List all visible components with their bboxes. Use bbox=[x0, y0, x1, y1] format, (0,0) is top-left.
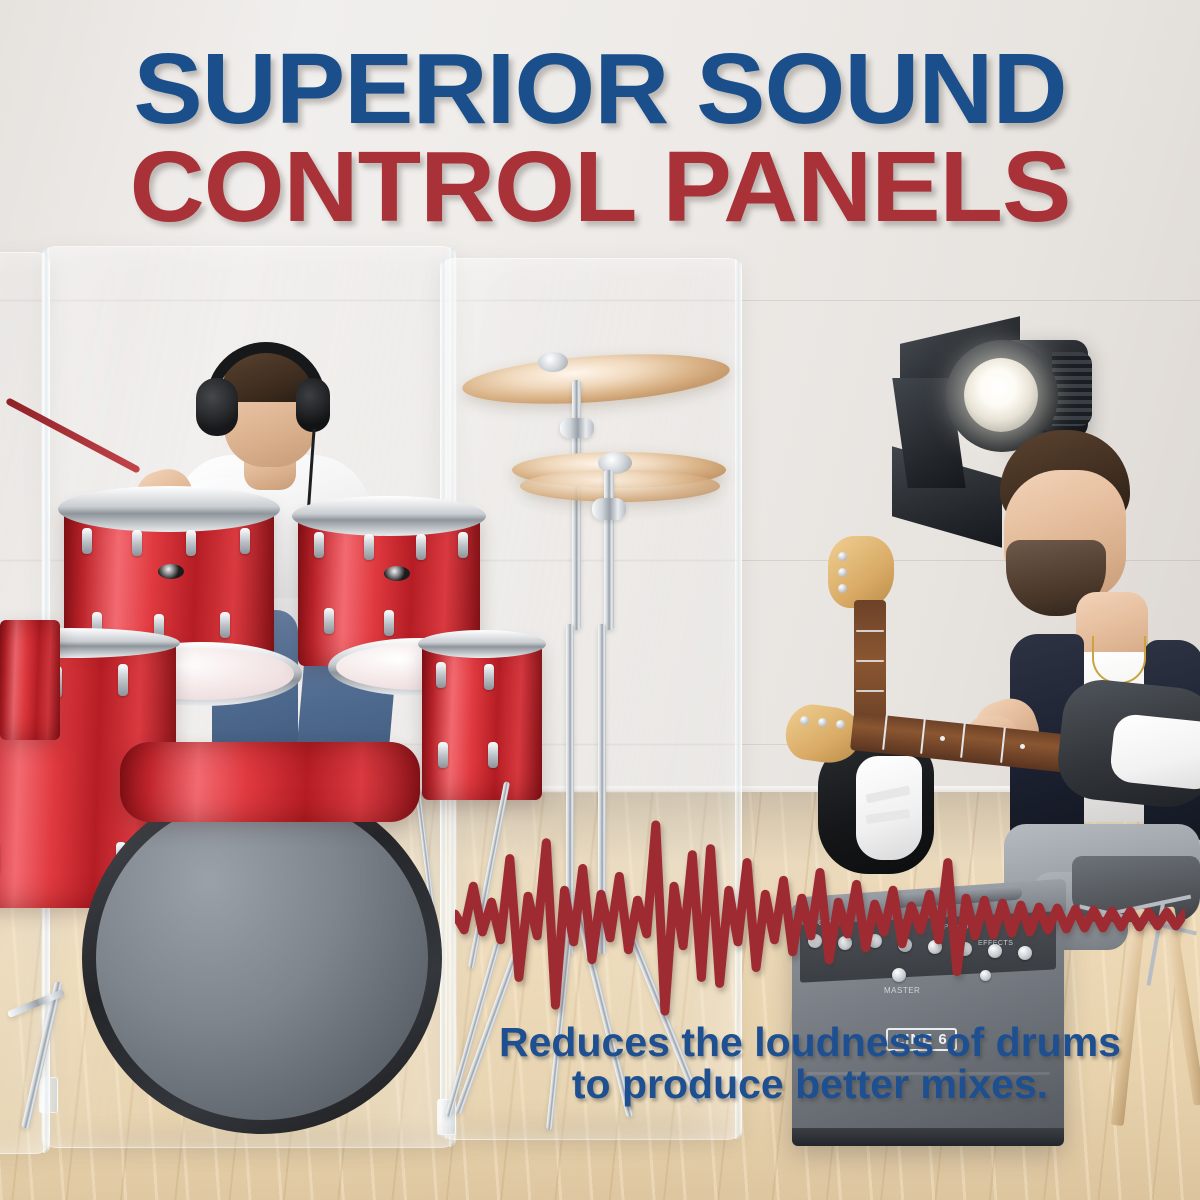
snare-drum bbox=[0, 620, 60, 740]
poster-canvas: CLEAN AMP MODEL EFFECTS MASTER LINE 6 SU… bbox=[0, 0, 1200, 1200]
stage-light-lens bbox=[964, 358, 1038, 432]
stage-light-vents bbox=[1052, 352, 1092, 426]
bass-drum-head bbox=[96, 796, 428, 1120]
headphones-earcup-left bbox=[196, 378, 238, 436]
crash-cymbal-bell bbox=[538, 352, 568, 372]
played-guitar-pickguard bbox=[1109, 713, 1200, 792]
panel-ground-shadow bbox=[450, 1120, 740, 1144]
amp-base bbox=[792, 1128, 1064, 1146]
headline-line-2: CONTROL PANELS bbox=[0, 140, 1200, 234]
guitarist-necklace bbox=[1092, 636, 1146, 684]
hi-hat-rod bbox=[604, 470, 614, 630]
caption-line-1: Reduces the loudness of drums bbox=[499, 1019, 1121, 1065]
headphones-earcup-right bbox=[296, 378, 330, 432]
sound-waveform bbox=[455, 815, 1185, 1025]
caption: Reduces the loudness of drums to produce… bbox=[430, 1022, 1190, 1106]
cymbal-tilter bbox=[560, 418, 594, 438]
bass-drum bbox=[82, 782, 442, 1134]
headline-line-1: SUPERIOR SOUND bbox=[0, 42, 1200, 136]
hi-hat-cup bbox=[592, 498, 626, 520]
hi-hat-bottom bbox=[520, 470, 720, 502]
caption-line-2: to produce better mixes. bbox=[430, 1064, 1190, 1106]
hi-hat-clutch bbox=[598, 452, 632, 474]
bass-drum-shell bbox=[120, 742, 420, 822]
